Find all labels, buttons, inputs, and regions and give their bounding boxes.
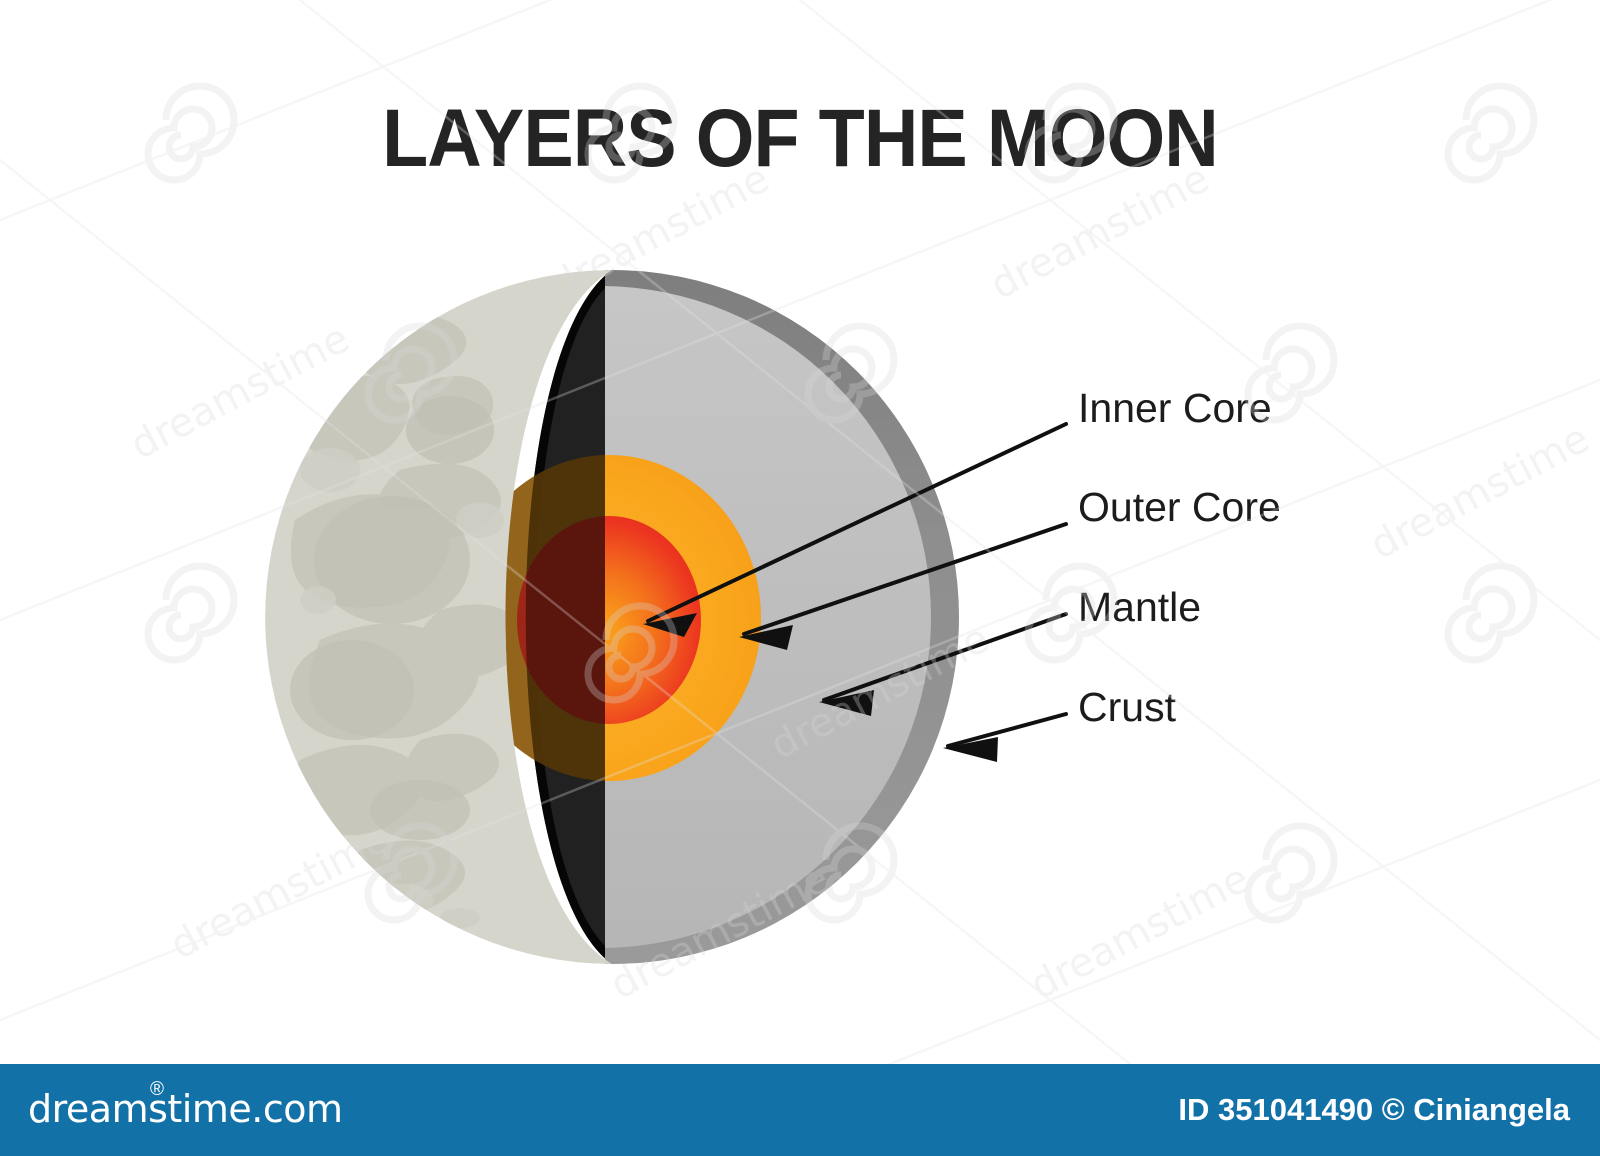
footer-bar: dreamstime.com ® ID 351041490 © Ciniange… bbox=[0, 1064, 1600, 1156]
callout-line-crust bbox=[948, 714, 1066, 746]
callout-label-outer-core: Outer Core bbox=[1078, 487, 1281, 528]
dreamstime-logo[interactable]: dreamstime.com bbox=[28, 1090, 342, 1128]
registered-mark-icon: ® bbox=[150, 1080, 164, 1099]
moon-layers-diagram bbox=[0, 0, 1600, 1040]
callout-label-crust: Crust bbox=[1078, 687, 1176, 728]
callout-label-mantle: Mantle bbox=[1078, 587, 1201, 628]
callout-label-inner-core: Inner Core bbox=[1078, 388, 1272, 429]
image-id-credit: ID 351041490 © Ciniangela bbox=[1178, 1094, 1570, 1125]
page-canvas: LAYERS OF THE MOON bbox=[0, 0, 1600, 1156]
